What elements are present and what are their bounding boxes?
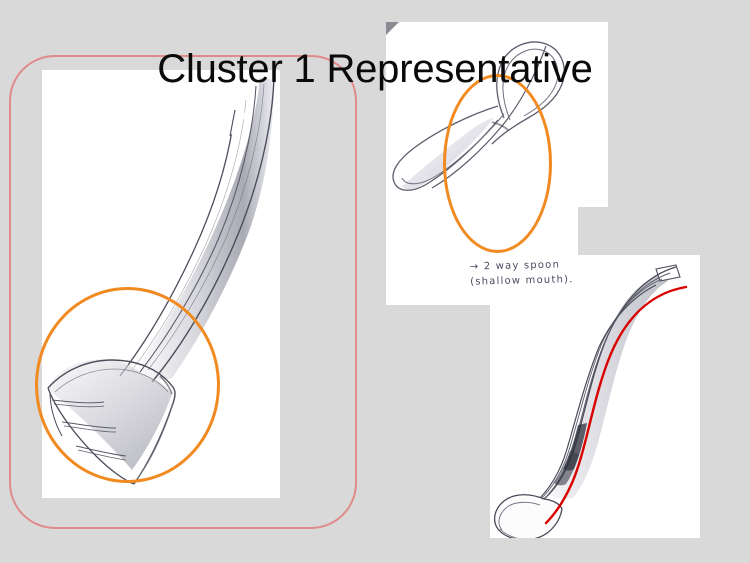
handwritten-annotation: → 2 way spoon (shallow mouth). <box>470 256 606 289</box>
folded-corner-icon <box>386 22 399 35</box>
middle-sketch-highlight-ellipse <box>443 74 552 253</box>
ladle-sketch <box>490 255 700 538</box>
main-sketch-highlight-ellipse <box>35 287 220 483</box>
bottom-sketch-panel <box>490 255 700 538</box>
page-title: Cluster 1 Representative <box>0 44 750 94</box>
slide-canvas: → 2 way spoon (shallow mouth). Cluster 1… <box>0 0 750 563</box>
